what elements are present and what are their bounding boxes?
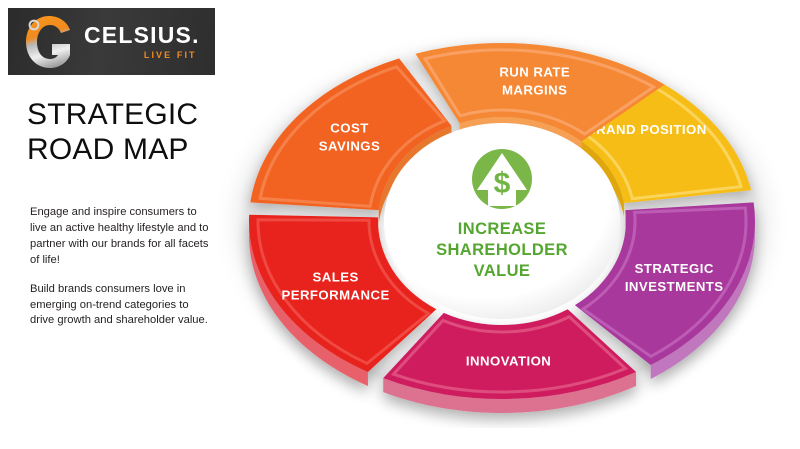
center-label-line1: INCREASE: [458, 220, 546, 238]
wheel-segment-label: SAVINGS: [319, 139, 381, 154]
strategy-wheel: BRAND POSITIONSTRATEGICINVESTMENTSINNOVA…: [205, 28, 800, 428]
wheel-segment-label: INVESTMENTS: [625, 279, 724, 294]
center-label-line3: VALUE: [474, 262, 531, 280]
strategy-wheel-svg: BRAND POSITIONSTRATEGICINVESTMENTSINNOVA…: [205, 28, 800, 428]
dollar-up-arrow-icon: $: [472, 149, 532, 209]
body-copy: Engage and inspire consumers to live an …: [30, 205, 210, 329]
wheel-segment-label: INNOVATION: [466, 353, 551, 368]
logo-tagline: LIVE FIT: [84, 50, 200, 60]
slide-canvas: CELSIUS. LIVE FIT STRATEGIC ROAD MAP Eng…: [0, 0, 800, 449]
wheel-segment-label: PERFORMANCE: [281, 288, 389, 303]
celsius-logo: CELSIUS. LIVE FIT: [8, 8, 215, 75]
center-label-line2: SHAREHOLDER: [436, 241, 568, 259]
wheel-segment-label: STRATEGIC: [635, 261, 714, 276]
wheel-segment-label: RUN RATE: [499, 65, 570, 80]
wheel-segment-label: COST: [330, 121, 368, 136]
body-paragraph-2: Build brands consumers love in emerging …: [30, 282, 210, 330]
wheel-segment-label: MARGINS: [502, 83, 567, 98]
wheel-segment-label: SALES: [312, 270, 358, 285]
celsius-c-mark-icon: [20, 13, 82, 71]
dollar-symbol: $: [494, 167, 511, 200]
body-paragraph-1: Engage and inspire consumers to live an …: [30, 205, 210, 269]
logo-wordmark: CELSIUS.: [84, 24, 200, 47]
